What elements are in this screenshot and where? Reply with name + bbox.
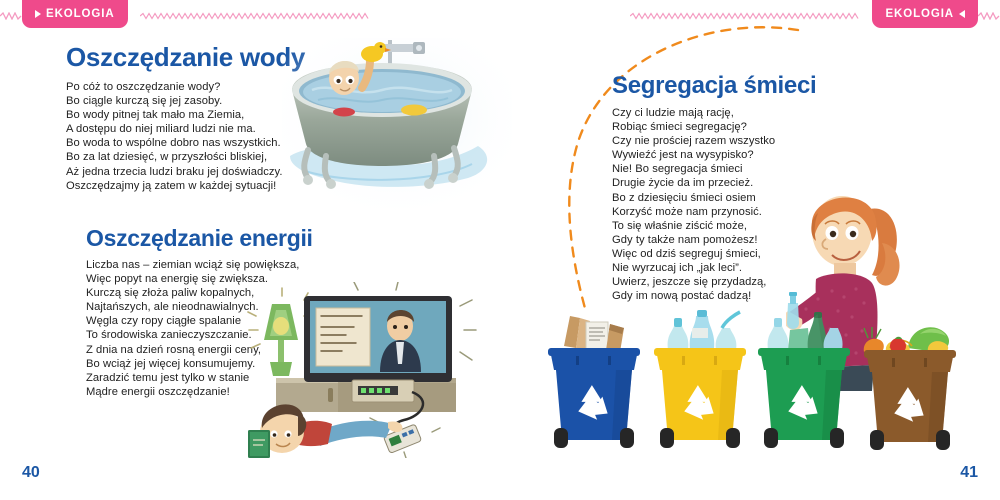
- recycling-bin-paper: [546, 312, 642, 452]
- television-and-boy-illustration: [246, 282, 502, 458]
- page-number-left: 40: [22, 464, 40, 482]
- recycling-bin-glass: [756, 312, 852, 452]
- book-spread: EKOLOGIA EKOLOGIA Oszczędzanie wody Po c…: [0, 0, 1000, 500]
- tab-ekologia-left[interactable]: EKOLOGIA: [22, 0, 128, 28]
- heading-waste: Segregacja śmieci: [612, 72, 816, 100]
- recycling-bin-bio: [862, 318, 958, 454]
- poem-waste: Czy ci ludzie mają rację, Robiąc śmieci …: [612, 106, 775, 303]
- heading-energy: Oszczędzanie energii: [86, 225, 313, 252]
- heading-water: Oszczędzanie wody: [66, 42, 305, 73]
- recycling-bin-plastic: [652, 310, 748, 452]
- decorative-zigzag-right-outer: [978, 12, 1000, 20]
- triangle-right-icon: [35, 10, 41, 18]
- bathtub-illustration: [282, 38, 512, 213]
- poem-water: Po cóż to oszczędzanie wody? Bo ciągle k…: [66, 80, 283, 193]
- tab-label: EKOLOGIA: [46, 8, 115, 20]
- decorative-zigzag-left-inner: [140, 12, 370, 20]
- decorative-zigzag-left-outer: [0, 12, 22, 20]
- tab-label: EKOLOGIA: [885, 8, 954, 20]
- tab-ekologia-right[interactable]: EKOLOGIA: [872, 0, 978, 28]
- triangle-left-icon: [959, 10, 965, 18]
- decorative-zigzag-right-inner: [630, 12, 860, 20]
- page-number-right: 41: [960, 464, 978, 482]
